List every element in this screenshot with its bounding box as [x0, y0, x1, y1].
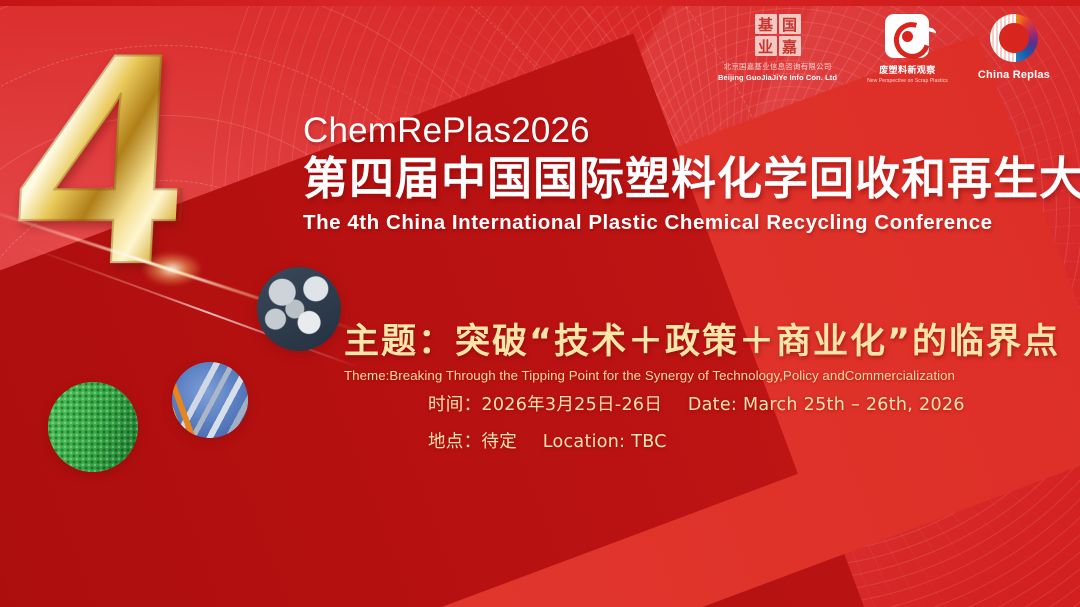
seal-char-4: 嘉: [779, 36, 801, 56]
photo-bubble-plastic-pipe-fittings: [257, 267, 341, 351]
event-details-block: 时间：2026年3月25日-26日 Date: March 25th – 26t…: [428, 391, 965, 453]
observer-cn-name: 废塑料新观察: [879, 63, 935, 76]
observer-en-name: New Perspective on Scrap Plastics: [867, 78, 948, 84]
event-location-en: Location: TBC: [543, 432, 667, 452]
theme-block: 主题：突破“技术＋政策＋商业化”的临界点 Theme:Breaking Thro…: [344, 322, 1059, 383]
china-replas-name: China Replas: [978, 69, 1050, 81]
event-date-en: Date: March 25th – 26th, 2026: [688, 395, 965, 415]
conference-title-en: The 4th China International Plastic Chem…: [303, 211, 1063, 235]
conference-poster: 4 基 国 业 嘉 北京国嘉基业信息咨询有限公司 Beijing GuoJiaJ…: [0, 0, 1080, 607]
photo-bubble-green-plastic-mesh: [48, 382, 138, 472]
logo-waste-plastic-observer: 废塑料新观察 New Perspective on Scrap Plastics: [867, 14, 948, 84]
theme-text-cn: 主题：突破“技术＋政策＋商业化”的临界点: [344, 322, 1059, 362]
photo-bubble-pipes-image: [257, 267, 341, 351]
conference-brand-name: ChemRePlas2026: [303, 112, 1063, 151]
photo-bubble-plastic-tubes: [172, 362, 248, 438]
light-flare: [142, 252, 202, 286]
china-replas-globe-icon: [990, 14, 1038, 62]
observer-mark-wrap: [885, 14, 929, 58]
seal-char-1: 基: [755, 14, 777, 34]
logo-beijing-guojiajiye: 基 国 业 嘉 北京国嘉基业信息咨询有限公司 Beijing GuoJiaJiY…: [718, 14, 837, 82]
event-location-cn: 地点：待定: [428, 432, 517, 452]
guojiajiye-en-name: Beijing GuoJiaJiYe Info Con. Ltd: [718, 73, 837, 82]
seal-char-2: 国: [779, 14, 801, 34]
logo-row: 基 国 业 嘉 北京国嘉基业信息咨询有限公司 Beijing GuoJiaJiY…: [718, 14, 1050, 84]
event-date-line: 时间：2026年3月25日-26日 Date: March 25th – 26t…: [428, 391, 965, 416]
event-location-line: 地点：待定 Location: TBC: [428, 428, 965, 453]
event-date-cn: 时间：2026年3月25日-26日: [428, 395, 662, 415]
logo-china-replas: China Replas: [978, 14, 1050, 81]
headline-block: ChemRePlas2026 第四届中国国际塑料化学回收和再生大会 The 4t…: [303, 112, 1063, 235]
guojiajiye-cn-name: 北京国嘉基业信息咨询有限公司: [724, 61, 832, 72]
seal-char-3: 业: [755, 36, 777, 56]
conference-title-cn: 第四届中国国际塑料化学回收和再生大会: [303, 153, 1063, 205]
guojiajiye-seal-icon: 基 国 业 嘉: [755, 14, 801, 56]
photo-bubble-mesh-image: [48, 382, 138, 472]
theme-text-en: Theme:Breaking Through the Tipping Point…: [344, 368, 1059, 383]
photo-bubble-tubes-image: [172, 362, 248, 438]
